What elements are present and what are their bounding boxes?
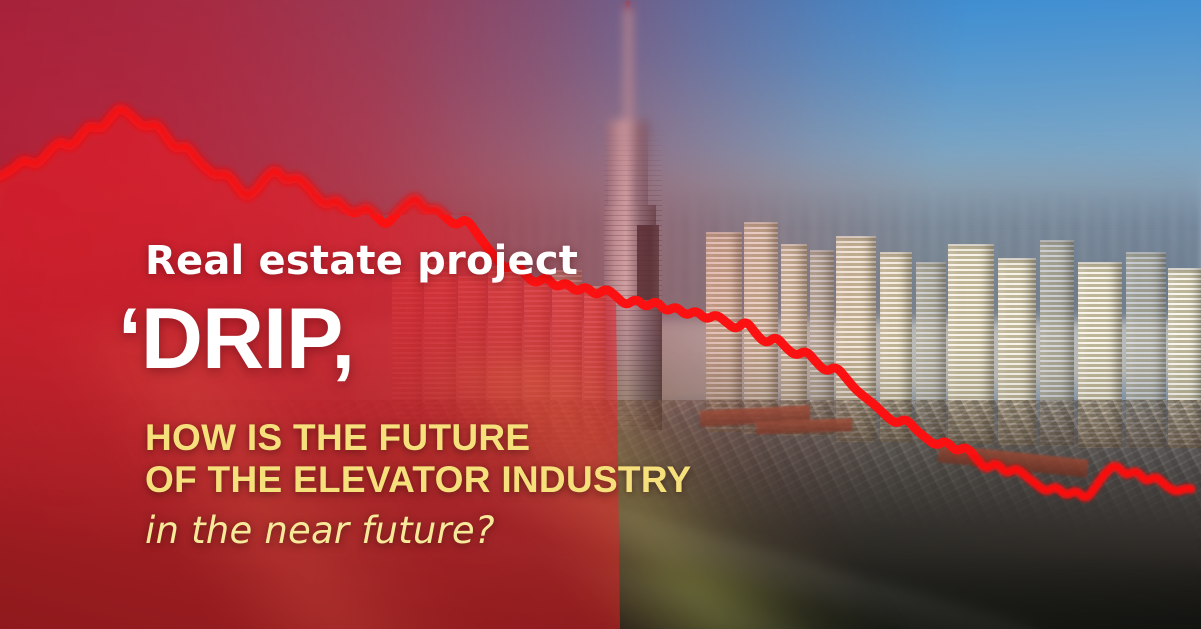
promo-banner: Real estate project ‘DRIP, HOW IS THE FU… [0, 0, 1201, 629]
subhead-line-3-italic: in the near future? [145, 509, 495, 552]
subhead-line-1: HOW IS THE FUTURE [145, 419, 530, 456]
subhead-line-2: OF THE ELEVATOR INDUSTRY [145, 461, 691, 498]
headline-main-title: ‘DRIP, [118, 296, 354, 382]
headline-kicker: Real estate project [145, 238, 578, 284]
